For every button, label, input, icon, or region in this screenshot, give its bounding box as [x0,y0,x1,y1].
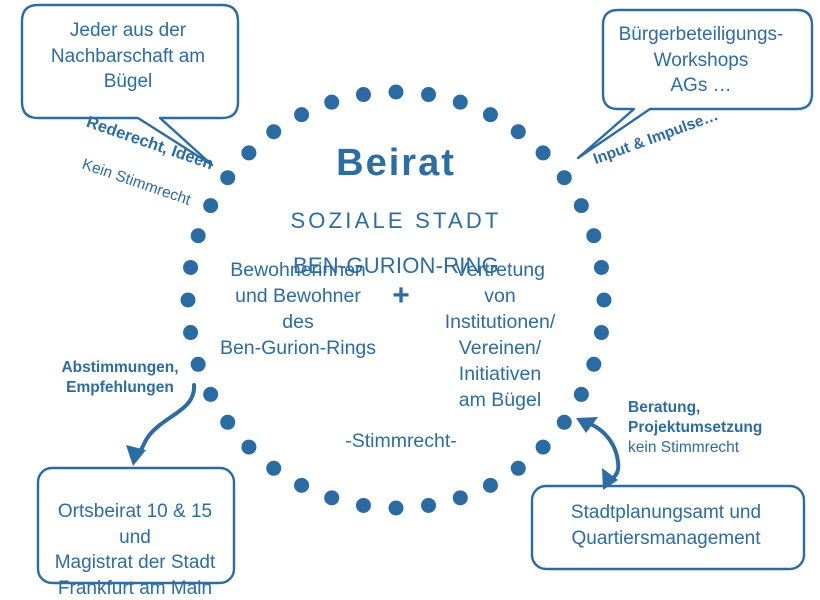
arrow-bottom-right [576,417,618,490]
ring-dot [586,228,601,243]
ring-dot [597,293,612,308]
ring-dot [536,440,551,455]
ring-dot [266,461,281,476]
ring-dot [453,490,468,505]
ring-dot [574,198,589,213]
plus-symbol: + [386,277,416,315]
ring-dot [183,260,198,275]
ring-dot [421,498,436,513]
members-residents-column: Bewohnerinnen und Bewohner des Ben-Gurio… [200,258,396,362]
ring-dot [241,440,256,455]
ring-dot [220,415,235,430]
callout-top-right-label: Bürgerbeteiligungs- Workshops AGs … [604,22,798,99]
ring-dot [294,107,309,122]
callout-bottom-right-label: Stadtplanungsamt und Quartiersmanagement [534,500,798,551]
ring-dot [389,85,404,100]
ring-dot [324,490,339,505]
page-title: Beirat [236,144,556,184]
ring-dot [356,87,371,102]
ring-dot [356,498,371,513]
ring-dot [421,87,436,102]
ring-dot [181,293,196,308]
subtitle-line-1: SOZIALE STADT [236,208,556,233]
ring-dot [483,107,498,122]
ring-dot [294,478,309,493]
annotation-bottom-right-regular: kein Stimmrecht [628,438,808,458]
voting-rights-note: -Stimmrecht- [316,429,486,453]
annotation-bottom-right-bold: Beratung, Projektumsetzung [628,398,808,438]
annotation-bottom-right: Beratung, Projektumsetzung kein Stimmrec… [628,398,808,458]
ring-dot [557,415,572,430]
ring-dot [203,387,218,402]
ring-dot [586,357,601,372]
ring-dot [183,325,198,340]
ring-dot [453,95,468,110]
members-institutions-column: Vertretung von Institutionen/ Vereinen/ … [414,258,586,414]
callout-top-left-label: Jeder aus der Nachbarschaft am Bügel [24,18,232,95]
annotation-bottom-left: Abstimmungen, Empfehlungen [40,358,200,398]
ring-dot [389,501,404,516]
callout-bottom-left-label: Ortsbeirat 10 & 15 und Magistrat der Sta… [36,499,234,600]
ring-dot [324,95,339,110]
diagram-canvas: Beirat SOZIALE STADT BEN-GURION-RING Bew… [0,0,820,600]
ring-dot [594,325,609,340]
ring-dot [594,260,609,275]
ring-dot [557,170,572,185]
ring-dot [483,478,498,493]
ring-dot [511,461,526,476]
